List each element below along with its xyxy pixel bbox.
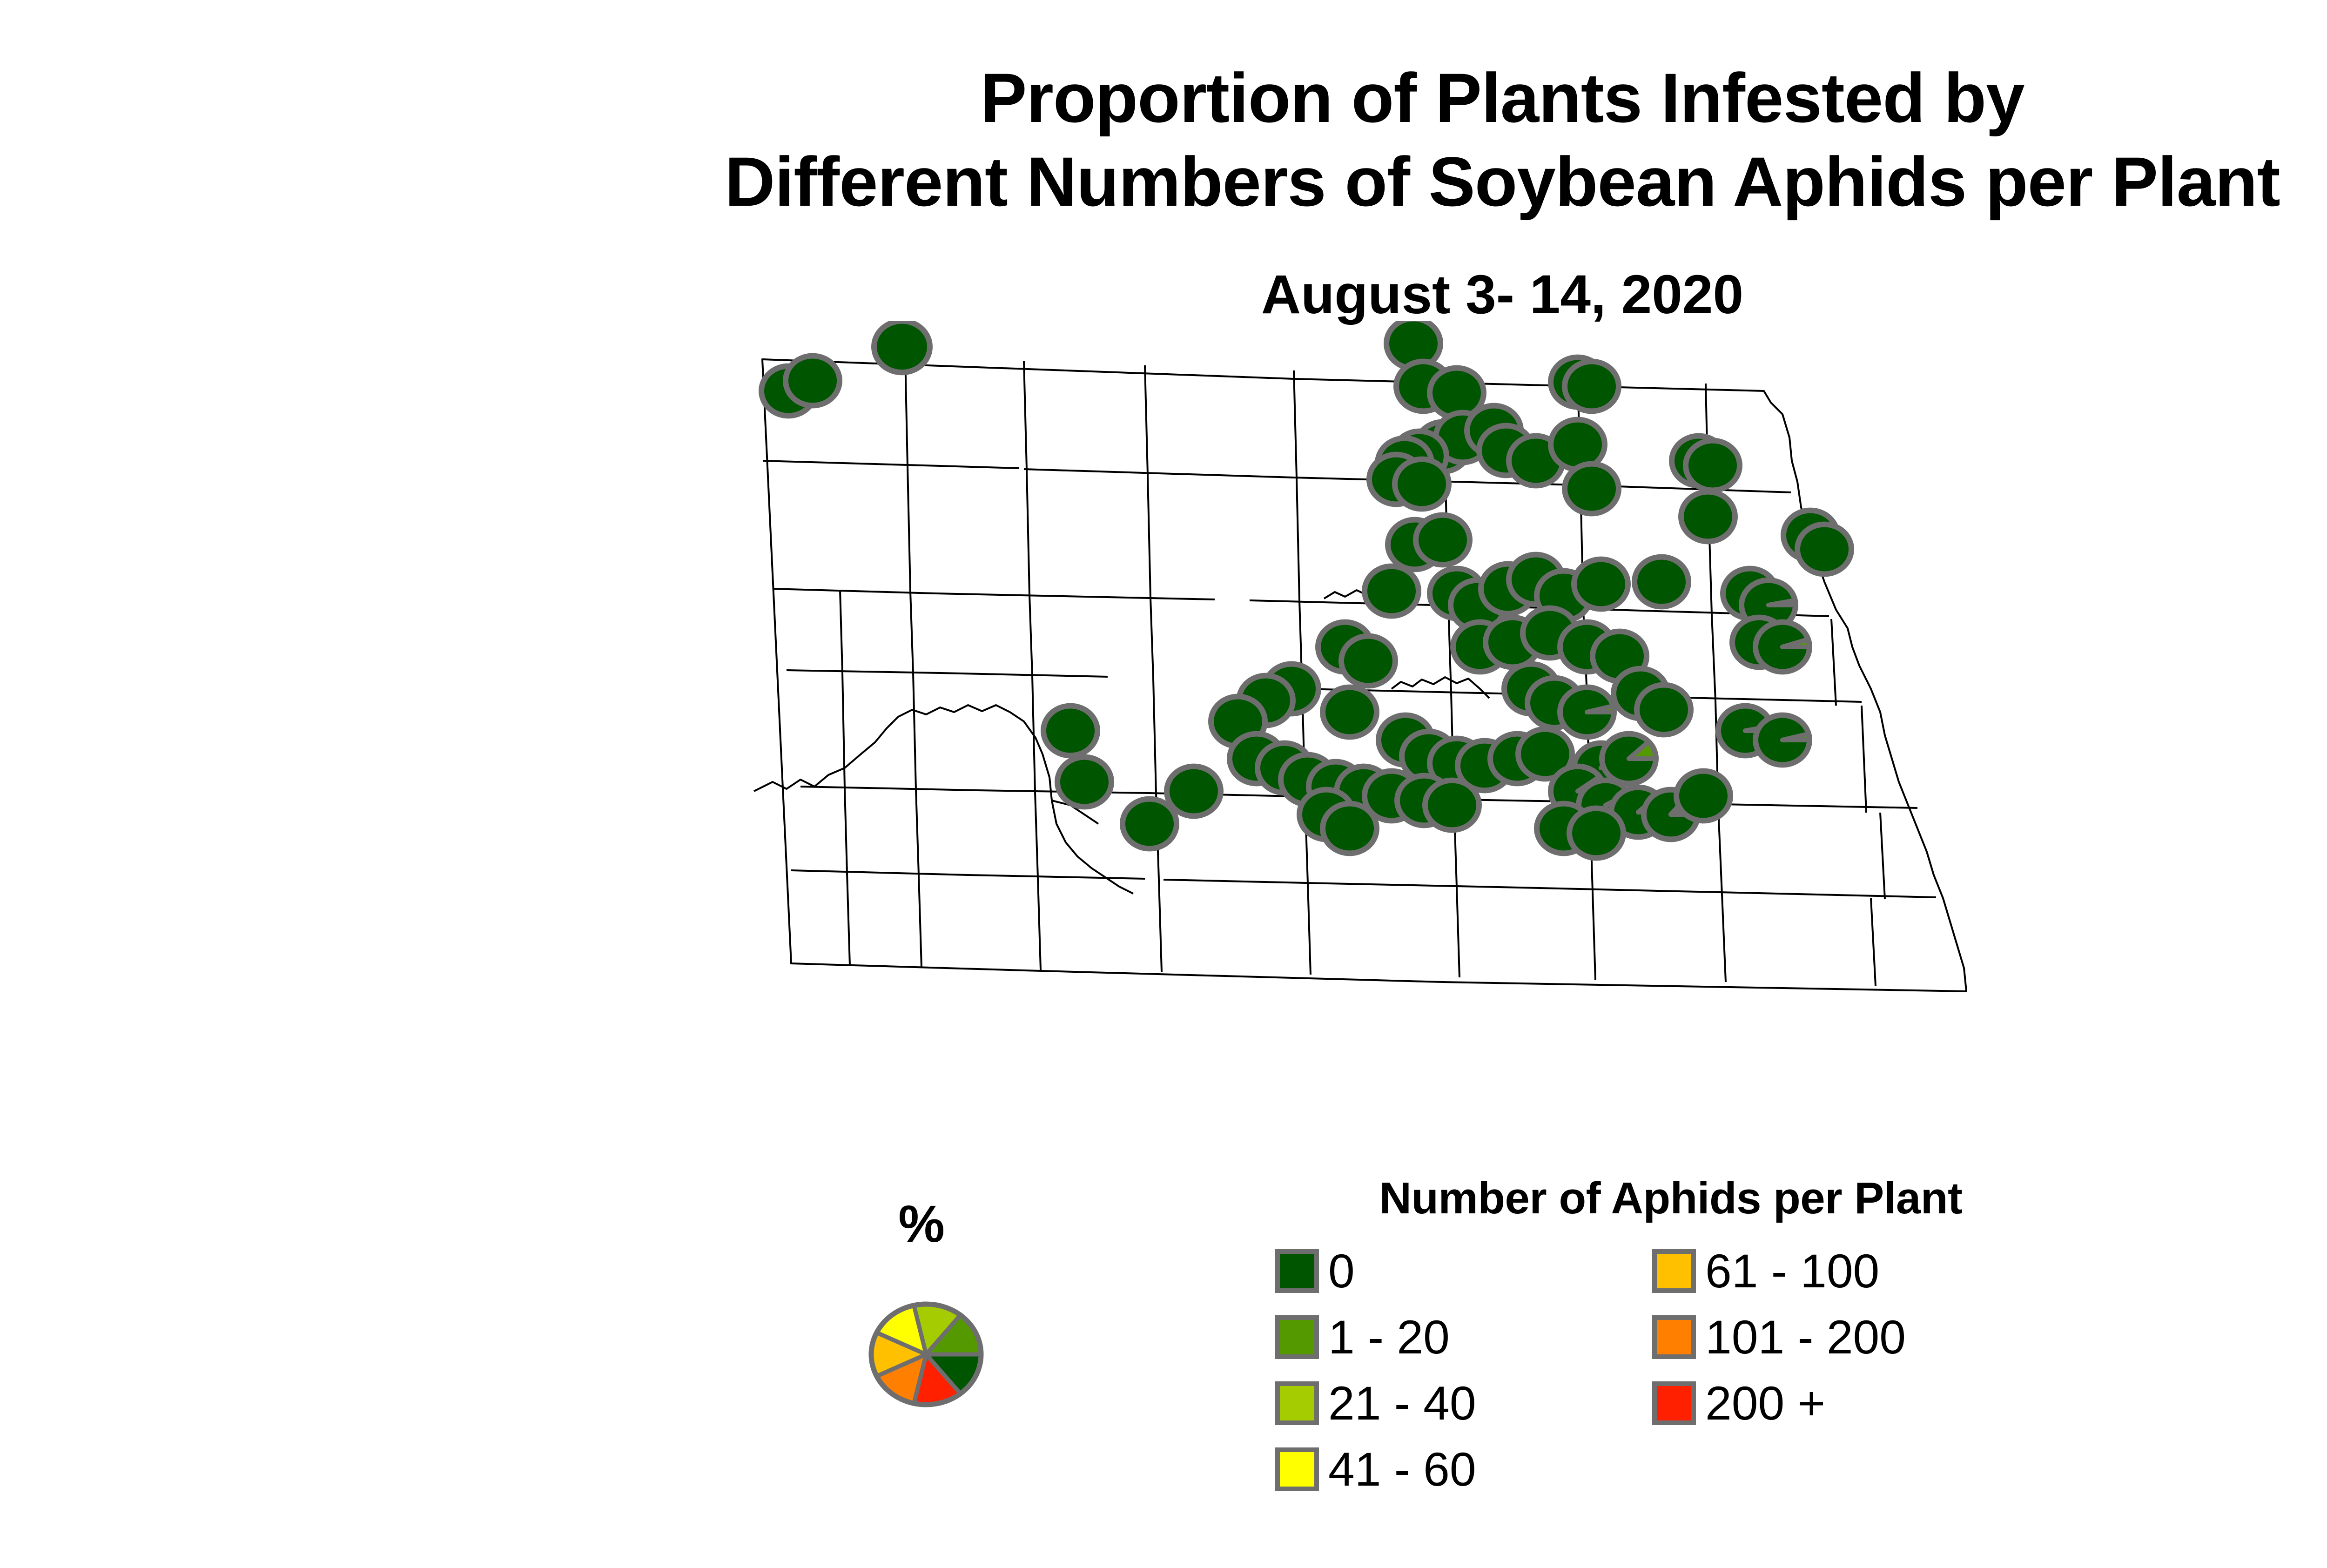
legend-item-label: 1 - 20 [1328, 1313, 1450, 1361]
site-pie-marker[interactable] [1425, 781, 1479, 830]
legend-swatch [1652, 1381, 1696, 1425]
legend-item-label: 61 - 100 [1705, 1247, 1879, 1295]
percent-key-label: % [819, 1194, 1024, 1254]
legend-swatch [1652, 1249, 1696, 1293]
site-pie-marker[interactable] [1365, 566, 1419, 616]
legend-columns: 01 - 2021 - 4041 - 60 61 - 100101 - 2002… [1275, 1238, 2066, 1502]
legend-item[interactable]: 1 - 20 [1275, 1304, 1652, 1370]
legend-item-label: 21 - 40 [1328, 1380, 1476, 1427]
site-pie-marker[interactable] [1755, 715, 1809, 765]
percent-key-pie [868, 1301, 984, 1408]
legend-swatch [1275, 1249, 1319, 1293]
site-pie-marker[interactable] [1395, 459, 1449, 509]
legend-swatch [1275, 1447, 1319, 1491]
site-pie-marker[interactable] [1637, 685, 1691, 735]
legend: Number of Aphids per Plant 01 - 2021 - 4… [1275, 1173, 2066, 1471]
site-pie-marker[interactable] [1323, 804, 1377, 854]
site-pie-marker[interactable] [1560, 687, 1614, 737]
site-pie-marker[interactable] [1569, 808, 1623, 858]
percent-key: % [819, 1194, 1024, 1464]
site-pie-marker[interactable] [1323, 687, 1377, 737]
legend-item-label: 0 [1328, 1247, 1355, 1295]
legend-column-right: 61 - 100101 - 200200 + [1652, 1238, 2029, 1502]
figure-root: Proportion of Plants Infested by Differe… [0, 0, 2327, 1568]
legend-item[interactable]: 101 - 200 [1652, 1304, 2029, 1370]
site-pie-marker[interactable] [1686, 441, 1740, 491]
chart-subtitle: August 3- 14, 2020 [0, 263, 2327, 326]
legend-item[interactable]: 21 - 40 [1275, 1370, 1652, 1436]
legend-column-left: 01 - 2021 - 4041 - 60 [1275, 1238, 1652, 1502]
legend-title: Number of Aphids per Plant [1275, 1173, 2066, 1224]
site-pie-marker[interactable] [1565, 464, 1619, 514]
site-pie-marker[interactable] [1634, 557, 1688, 607]
site-pie-marker[interactable] [1416, 515, 1470, 565]
legend-item[interactable]: 0 [1275, 1238, 1652, 1304]
site-pie-marker[interactable] [1341, 636, 1395, 686]
site-pie-marker[interactable] [1797, 525, 1851, 574]
site-pie-marker[interactable] [874, 321, 930, 372]
site-pie-markers [761, 321, 1851, 858]
north-dakota-map [745, 321, 2094, 1122]
title-line-2: Different Numbers of Soybean Aphids per … [0, 140, 2327, 223]
legend-swatch [1652, 1315, 1696, 1359]
site-pie-marker[interactable] [1676, 771, 1730, 821]
legend-item-label: 200 + [1705, 1380, 1825, 1427]
title-line-1: Proportion of Plants Infested by [0, 56, 2327, 140]
site-pie-marker[interactable] [1057, 757, 1111, 807]
site-pie-marker[interactable] [1565, 362, 1619, 411]
site-pie-marker[interactable] [1123, 799, 1177, 849]
site-pie-marker[interactable] [1755, 622, 1809, 672]
legend-swatch [1275, 1381, 1319, 1425]
site-pie-marker[interactable] [1681, 492, 1735, 542]
site-pie-marker[interactable] [786, 356, 840, 406]
map-svg [745, 321, 2094, 1122]
legend-item[interactable]: 61 - 100 [1652, 1238, 2029, 1304]
site-pie-marker[interactable] [1574, 559, 1628, 609]
legend-item-label: 41 - 60 [1328, 1446, 1476, 1493]
site-pie-marker[interactable] [1602, 734, 1656, 784]
site-pie-marker[interactable] [1167, 767, 1221, 816]
legend-item[interactable]: 41 - 60 [1275, 1436, 1652, 1502]
site-pie-marker[interactable] [1043, 706, 1097, 756]
legend-item[interactable]: 200 + [1652, 1370, 2029, 1436]
legend-swatch [1275, 1315, 1319, 1359]
legend-item-label: 101 - 200 [1705, 1313, 1906, 1361]
page-title: Proportion of Plants Infested by Differe… [0, 56, 2327, 223]
